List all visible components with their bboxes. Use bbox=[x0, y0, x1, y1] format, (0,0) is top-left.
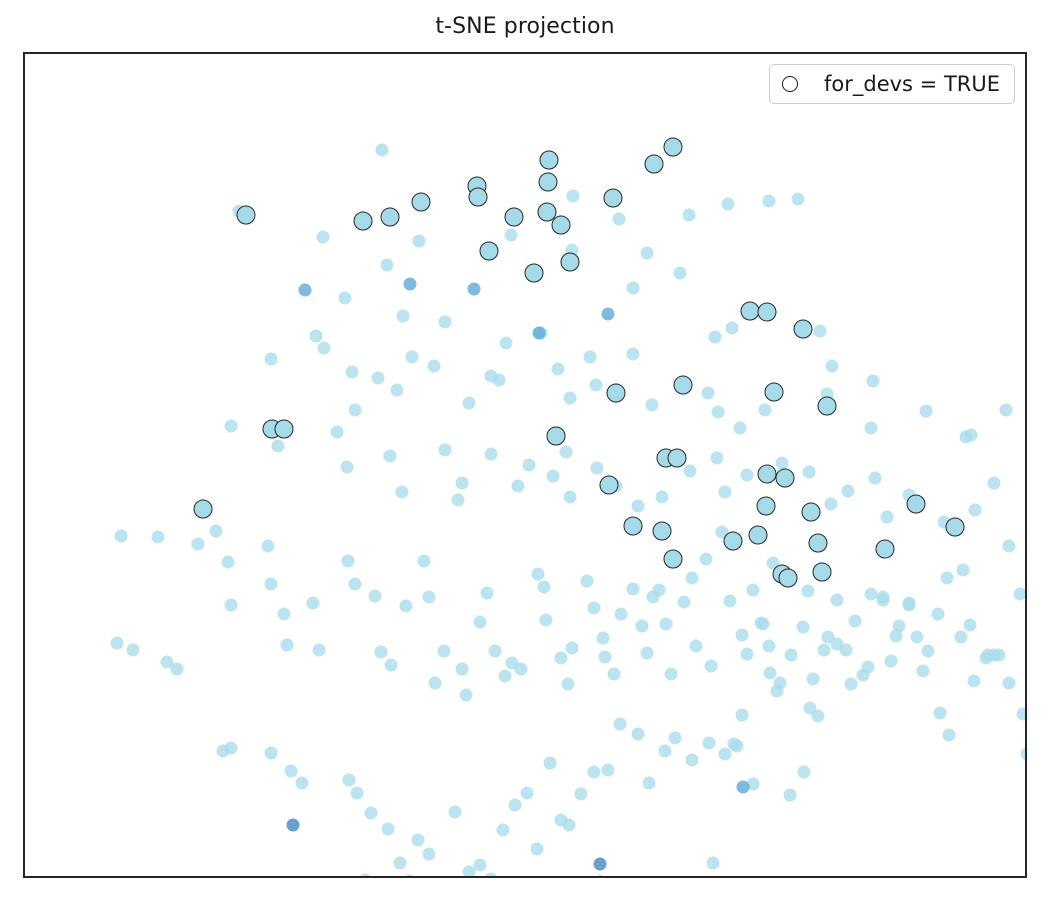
scatter-point bbox=[831, 638, 844, 651]
scatter-point-highlighted bbox=[876, 540, 895, 559]
scatter-point-highlighted bbox=[547, 427, 566, 446]
scatter-point-highlighted bbox=[539, 173, 558, 192]
scatter-point-highlighted bbox=[758, 465, 777, 484]
scatter-point bbox=[922, 645, 935, 658]
scatter-point bbox=[376, 144, 389, 157]
scatter-point bbox=[552, 363, 565, 376]
scatter-point bbox=[818, 644, 831, 657]
scatter-point bbox=[375, 646, 388, 659]
scatter-point bbox=[705, 660, 718, 673]
scatter-point-highlighted bbox=[724, 532, 743, 551]
scatter-point bbox=[531, 843, 544, 856]
scatter-point bbox=[359, 874, 372, 879]
scatter-point bbox=[365, 807, 378, 820]
scatter-point-highlighted bbox=[653, 522, 672, 541]
scatter-point bbox=[614, 718, 627, 731]
scatter-point bbox=[1000, 404, 1013, 417]
scatter-point bbox=[265, 578, 278, 591]
scatter-point bbox=[968, 675, 981, 688]
scatter-point bbox=[474, 859, 487, 872]
scatter-point bbox=[641, 247, 654, 260]
scatter-point bbox=[890, 630, 903, 643]
scatter-point bbox=[734, 422, 747, 435]
scatter-point bbox=[515, 663, 528, 676]
scatter-point-highlighted bbox=[237, 206, 256, 225]
scatter-point-highlighted bbox=[505, 208, 524, 227]
scatter-point bbox=[456, 663, 469, 676]
scatter-point bbox=[797, 621, 810, 634]
scatter-point bbox=[564, 491, 577, 504]
scatter-point bbox=[920, 405, 933, 418]
scatter-points-layer bbox=[25, 54, 1025, 876]
scatter-point bbox=[1003, 677, 1016, 690]
scatter-point bbox=[285, 765, 298, 778]
scatter-point bbox=[394, 857, 407, 870]
scatter-point bbox=[439, 316, 452, 329]
scatter-point bbox=[192, 538, 205, 551]
scatter-point bbox=[825, 498, 838, 511]
scatter-point bbox=[385, 659, 398, 672]
scatter-point bbox=[747, 584, 760, 597]
scatter-point bbox=[785, 649, 798, 662]
scatter-point bbox=[384, 450, 397, 463]
scatter-point bbox=[449, 806, 462, 819]
scatter-point bbox=[988, 477, 1001, 490]
scatter-point bbox=[339, 292, 352, 305]
scatter-point bbox=[763, 640, 776, 653]
scatter-point bbox=[588, 766, 601, 779]
scatter-point-highlighted bbox=[525, 264, 544, 283]
scatter-point bbox=[885, 655, 898, 668]
scatter-point-highlighted bbox=[802, 503, 821, 522]
scatter-point bbox=[391, 384, 404, 397]
scatter-point bbox=[646, 399, 659, 412]
scatter-point-highlighted bbox=[946, 518, 965, 537]
scatter-point bbox=[684, 465, 697, 478]
page-title: t-SNE projection bbox=[0, 14, 1050, 39]
scatter-point bbox=[428, 360, 441, 373]
scatter-point bbox=[643, 777, 656, 790]
scatter-point bbox=[532, 568, 545, 581]
scatter-point bbox=[731, 740, 744, 753]
scatter-point bbox=[741, 469, 754, 482]
scatter-point bbox=[485, 448, 498, 461]
scatter-point bbox=[802, 585, 815, 598]
scatter-point bbox=[665, 668, 678, 681]
scatter-point bbox=[960, 431, 973, 444]
scatter-point bbox=[523, 459, 536, 472]
scatter-point bbox=[400, 600, 413, 613]
scatter-point-highlighted bbox=[758, 303, 777, 322]
scatter-point-highlighted bbox=[664, 138, 683, 157]
legend: for_devs = TRUE bbox=[769, 64, 1015, 104]
scatter-point bbox=[369, 590, 382, 603]
scatter-point bbox=[1017, 708, 1028, 721]
scatter-point-highlighted bbox=[469, 188, 488, 207]
scatter-point bbox=[608, 668, 621, 681]
scatter-point bbox=[560, 446, 573, 459]
scatter-point-mid bbox=[468, 283, 481, 296]
scatter-point bbox=[225, 420, 238, 433]
scatter-point bbox=[867, 375, 880, 388]
scatter-point bbox=[349, 578, 362, 591]
scatter-point bbox=[741, 648, 754, 661]
scatter-point bbox=[341, 461, 354, 474]
scatter-point bbox=[567, 190, 580, 203]
scatter-point-highlighted bbox=[194, 500, 213, 519]
scatter-point bbox=[262, 540, 275, 553]
scatter-point bbox=[759, 404, 772, 417]
scatter-point bbox=[265, 747, 278, 760]
scatter-point bbox=[590, 379, 603, 392]
scatter-point-mid bbox=[404, 278, 417, 291]
scatter-point-highlighted bbox=[818, 397, 837, 416]
scatter-point bbox=[584, 351, 597, 364]
scatter-point bbox=[726, 322, 739, 335]
scatter-point bbox=[678, 596, 691, 609]
scatter-point-highlighted bbox=[776, 469, 795, 488]
plot-area: for_devs = TRUE bbox=[23, 52, 1027, 878]
scatter-point bbox=[686, 754, 699, 767]
scatter-point bbox=[423, 848, 436, 861]
scatter-point bbox=[512, 480, 525, 493]
scatter-point bbox=[862, 661, 875, 674]
scatter-point bbox=[957, 564, 970, 577]
scatter-point bbox=[1003, 540, 1016, 553]
scatter-point bbox=[563, 819, 576, 832]
scatter-point bbox=[712, 406, 725, 419]
scatter-point bbox=[597, 632, 610, 645]
scatter-point-mid bbox=[299, 284, 312, 297]
scatter-point bbox=[413, 235, 426, 248]
scatter-point bbox=[903, 599, 916, 612]
scatter-point bbox=[736, 629, 749, 642]
scatter-point bbox=[798, 766, 811, 779]
scatter-point-mid bbox=[533, 327, 546, 340]
scatter-point bbox=[669, 732, 682, 745]
scatter-point bbox=[719, 748, 732, 761]
scatter-point-highlighted bbox=[664, 550, 683, 569]
scatter-point bbox=[493, 374, 506, 387]
scatter-point bbox=[372, 372, 385, 385]
scatter-point-highlighted bbox=[552, 216, 571, 235]
scatter-point bbox=[869, 472, 882, 485]
scatter-point bbox=[281, 639, 294, 652]
scatter-point bbox=[724, 595, 737, 608]
scatter-point bbox=[993, 649, 1006, 662]
scatter-point-highlighted bbox=[607, 384, 626, 403]
scatter-point bbox=[955, 631, 968, 644]
scatter-point bbox=[656, 491, 669, 504]
scatter-point bbox=[941, 572, 954, 585]
scatter-point bbox=[505, 229, 518, 242]
scatter-point bbox=[881, 511, 894, 524]
scatter-point bbox=[342, 555, 355, 568]
scatter-point-highlighted bbox=[765, 383, 784, 402]
scatter-point bbox=[722, 198, 735, 211]
scatter-point bbox=[489, 645, 502, 658]
scatter-point bbox=[210, 525, 223, 538]
scatter-point bbox=[581, 575, 594, 588]
scatter-point bbox=[627, 583, 640, 596]
scatter-point bbox=[456, 477, 469, 490]
scatter-point bbox=[709, 331, 722, 344]
scatter-point-highlighted bbox=[412, 193, 431, 212]
scatter-point bbox=[310, 330, 323, 343]
scatter-point bbox=[615, 608, 628, 621]
scatter-point bbox=[555, 652, 568, 665]
scatter-point-highlighted bbox=[809, 534, 828, 553]
scatter-point bbox=[429, 677, 442, 690]
scatter-point bbox=[544, 757, 557, 770]
scatter-point bbox=[702, 387, 715, 400]
scatter-point bbox=[911, 631, 924, 644]
scatter-point bbox=[485, 873, 498, 879]
scatter-point-highlighted bbox=[645, 155, 664, 174]
scatter-point-highlighted bbox=[354, 212, 373, 231]
scatter-point bbox=[627, 282, 640, 295]
scatter-point bbox=[318, 342, 331, 355]
legend-label: for_devs = TRUE bbox=[824, 72, 1000, 96]
scatter-point bbox=[686, 572, 699, 585]
scatter-point bbox=[452, 494, 465, 507]
scatter-point bbox=[719, 486, 732, 499]
scatter-point bbox=[934, 707, 947, 720]
scatter-point bbox=[776, 457, 789, 470]
scatter-point bbox=[653, 584, 666, 597]
scatter-point bbox=[627, 348, 640, 361]
scatter-point bbox=[771, 685, 784, 698]
scatter-point bbox=[497, 824, 510, 837]
scatter-point-highlighted bbox=[624, 517, 643, 536]
scatter-point bbox=[632, 500, 645, 513]
scatter-point-highlighted bbox=[779, 569, 798, 588]
scatter-point bbox=[703, 737, 716, 750]
scatter-point-highlighted bbox=[480, 242, 499, 261]
scatter-point bbox=[225, 599, 238, 612]
scatter-point-highlighted bbox=[757, 497, 776, 516]
scatter-point bbox=[1014, 588, 1027, 601]
scatter-point bbox=[307, 597, 320, 610]
scatter-point bbox=[403, 875, 416, 879]
scatter-point bbox=[659, 745, 672, 758]
scatter-point bbox=[397, 310, 410, 323]
scatter-point bbox=[115, 530, 128, 543]
scatter-point-highlighted bbox=[813, 563, 832, 582]
scatter-point bbox=[804, 702, 817, 715]
scatter-point bbox=[1021, 748, 1028, 761]
scatter-point-highlighted bbox=[381, 208, 400, 227]
scatter-point bbox=[566, 642, 579, 655]
scatter-point bbox=[272, 440, 285, 453]
scatter-point-highlighted bbox=[275, 420, 294, 439]
scatter-point bbox=[351, 787, 364, 800]
scatter-point bbox=[964, 619, 977, 632]
scatter-point bbox=[943, 729, 956, 742]
scatter-point bbox=[265, 353, 278, 366]
legend-marker-icon bbox=[782, 76, 798, 92]
scatter-point bbox=[152, 531, 165, 544]
scatter-point bbox=[538, 581, 551, 594]
scatter-point bbox=[1027, 777, 1028, 790]
scatter-point bbox=[406, 351, 419, 364]
scatter-point bbox=[969, 504, 982, 517]
scatter-point bbox=[575, 788, 588, 801]
scatter-point bbox=[343, 774, 356, 787]
scatter-point bbox=[418, 555, 431, 568]
scatter-point bbox=[540, 614, 553, 627]
scatter-point bbox=[591, 462, 604, 475]
scatter-point bbox=[700, 553, 713, 566]
scatter-point bbox=[711, 452, 724, 465]
scatter-point bbox=[381, 259, 394, 272]
scatter-point bbox=[599, 651, 612, 664]
scatter-point bbox=[683, 209, 696, 222]
scatter-point bbox=[346, 366, 359, 379]
scatter-point bbox=[396, 486, 409, 499]
scatter-point bbox=[636, 620, 649, 633]
scatter-point bbox=[632, 728, 645, 741]
scatter-point bbox=[917, 665, 930, 678]
scatter-point-highlighted bbox=[794, 320, 813, 339]
scatter-point bbox=[707, 857, 720, 870]
scatter-point bbox=[660, 618, 673, 631]
scatter-point bbox=[222, 556, 235, 569]
scatter-point bbox=[877, 591, 890, 604]
scatter-point-highlighted bbox=[540, 151, 559, 170]
scatter-point bbox=[547, 470, 560, 483]
scatter-point-dark bbox=[287, 819, 300, 832]
scatter-point bbox=[463, 397, 476, 410]
scatter-point bbox=[278, 608, 291, 621]
scatter-point-highlighted bbox=[561, 253, 580, 272]
scatter-point bbox=[613, 213, 626, 226]
scatter-point bbox=[736, 709, 749, 722]
scatter-point bbox=[500, 337, 513, 350]
scatter-point bbox=[865, 422, 878, 435]
scatter-point bbox=[932, 608, 945, 621]
scatter-point-highlighted bbox=[604, 189, 623, 208]
scatter-point bbox=[803, 466, 816, 479]
scatter-point bbox=[690, 640, 703, 653]
scatter-point bbox=[807, 673, 820, 686]
scatter-point bbox=[439, 444, 452, 457]
scatter-point bbox=[849, 615, 862, 628]
scatter-point bbox=[313, 644, 326, 657]
figure-canvas: t-SNE projection for_devs = TRUE bbox=[0, 0, 1050, 900]
scatter-point bbox=[382, 823, 395, 836]
scatter-point bbox=[481, 587, 494, 600]
scatter-point bbox=[127, 644, 140, 657]
scatter-point bbox=[111, 637, 124, 650]
scatter-point bbox=[564, 392, 577, 405]
scatter-point-dark bbox=[594, 876, 607, 879]
scatter-point bbox=[763, 195, 776, 208]
scatter-point bbox=[423, 591, 436, 604]
scatter-point bbox=[474, 616, 487, 629]
scatter-point bbox=[814, 325, 827, 338]
scatter-point bbox=[842, 485, 855, 498]
scatter-point bbox=[412, 834, 425, 847]
scatter-point-mid bbox=[737, 781, 750, 794]
scatter-point-highlighted bbox=[674, 376, 693, 395]
scatter-point bbox=[509, 799, 522, 812]
scatter-point bbox=[349, 404, 362, 417]
scatter-point-highlighted bbox=[749, 526, 768, 545]
scatter-point bbox=[521, 787, 534, 800]
scatter-point bbox=[171, 663, 184, 676]
scatter-point bbox=[792, 193, 805, 206]
scatter-point bbox=[755, 617, 768, 630]
scatter-point bbox=[460, 689, 473, 702]
scatter-point bbox=[831, 594, 844, 607]
scatter-point bbox=[674, 267, 687, 280]
scatter-point bbox=[331, 426, 344, 439]
scatter-point bbox=[784, 789, 797, 802]
scatter-point-mid bbox=[602, 308, 615, 321]
scatter-point bbox=[588, 602, 601, 615]
scatter-point bbox=[317, 231, 330, 244]
scatter-point-highlighted bbox=[907, 495, 926, 514]
scatter-point bbox=[641, 647, 654, 660]
scatter-point bbox=[499, 670, 512, 683]
scatter-point-highlighted bbox=[668, 449, 687, 468]
scatter-point bbox=[845, 678, 858, 691]
scatter-point-highlighted bbox=[600, 476, 619, 495]
scatter-point bbox=[296, 777, 309, 790]
scatter-point bbox=[764, 667, 777, 680]
scatter-point-dark bbox=[594, 858, 607, 871]
scatter-point bbox=[562, 678, 575, 691]
scatter-point bbox=[602, 764, 615, 777]
scatter-point bbox=[826, 360, 839, 373]
scatter-point bbox=[438, 645, 451, 658]
scatter-point bbox=[225, 742, 238, 755]
